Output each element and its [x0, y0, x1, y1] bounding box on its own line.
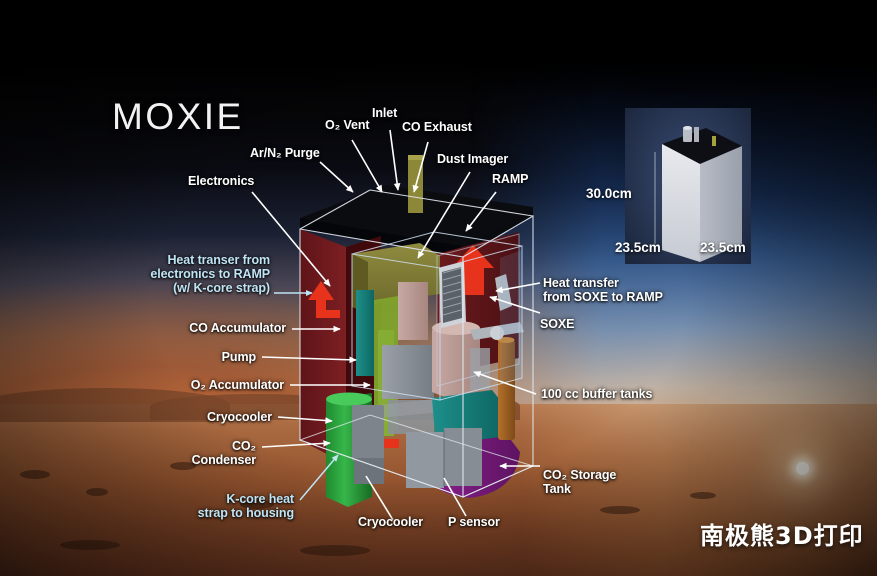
- co2-condenser-line-2: Condenser: [100, 453, 256, 467]
- leader-ar-n2-purge: [320, 162, 353, 192]
- label-soxe: SOXE: [540, 317, 574, 331]
- label-co-accumulator: CO Accumulator: [100, 321, 286, 335]
- leader-inlet: [390, 130, 398, 190]
- watermark: 南极熊3D打印: [700, 516, 864, 551]
- co2-storage-line-2: Tank: [543, 482, 616, 496]
- label-pump: Pump: [100, 350, 256, 364]
- label-buffer-tanks: 100 cc buffer tanks: [541, 387, 652, 401]
- k-core-line-2: strap to housing: [108, 506, 294, 520]
- label-co-exhaust: CO Exhaust: [402, 120, 472, 134]
- label-dust-imager: Dust Imager: [437, 152, 508, 166]
- leader-o2-vent: [352, 140, 382, 192]
- label-cryocooler-left: Cryocooler: [100, 410, 272, 424]
- co2-condenser-line-1: CO₂: [100, 439, 256, 453]
- k-core-line-1: K-core heat: [108, 492, 294, 506]
- label-cryocooler-bottom: Cryocooler: [358, 515, 423, 529]
- label-ar-n2-purge: Ar/N₂ Purge: [250, 146, 320, 160]
- heat-transfer-line-1: Heat transer from: [60, 253, 270, 267]
- label-co2-condenser: CO₂ Condenser: [100, 439, 256, 467]
- heat-transfer-line-2: electronics to RAMP: [60, 267, 270, 281]
- dimension-width-right: 23.5cm: [700, 240, 746, 255]
- label-p-sensor: P sensor: [448, 515, 500, 529]
- label-heat-transfer-soxe: Heat transfer from SOXE to RAMP: [543, 276, 663, 304]
- ramp-panel-glass: [500, 250, 522, 384]
- heat-soxe-line-2: from SOXE to RAMP: [543, 290, 663, 304]
- label-heat-transfer-electronics: Heat transer from electronics to RAMP (w…: [60, 253, 270, 295]
- dimension-height: 30.0cm: [586, 186, 632, 201]
- moxie-cutaway-model: [300, 155, 533, 507]
- dimension-width-left: 23.5cm: [615, 240, 661, 255]
- label-o2-accumulator: O₂ Accumulator: [100, 378, 284, 392]
- label-inlet: Inlet: [372, 106, 397, 120]
- label-co2-storage-tank: CO₂ Storage Tank: [543, 468, 616, 496]
- co2-storage-line-1: CO₂ Storage: [543, 468, 616, 482]
- label-ramp: RAMP: [492, 172, 528, 186]
- heat-transfer-line-3: (w/ K-core strap): [60, 281, 270, 295]
- heat-soxe-line-1: Heat transfer: [543, 276, 663, 290]
- screenshot-stage: MOXIE: [0, 0, 877, 576]
- label-o2-vent: O₂ Vent: [325, 118, 369, 132]
- label-electronics: Electronics: [188, 174, 254, 188]
- label-k-core-heat-strap: K-core heat strap to housing: [108, 492, 294, 520]
